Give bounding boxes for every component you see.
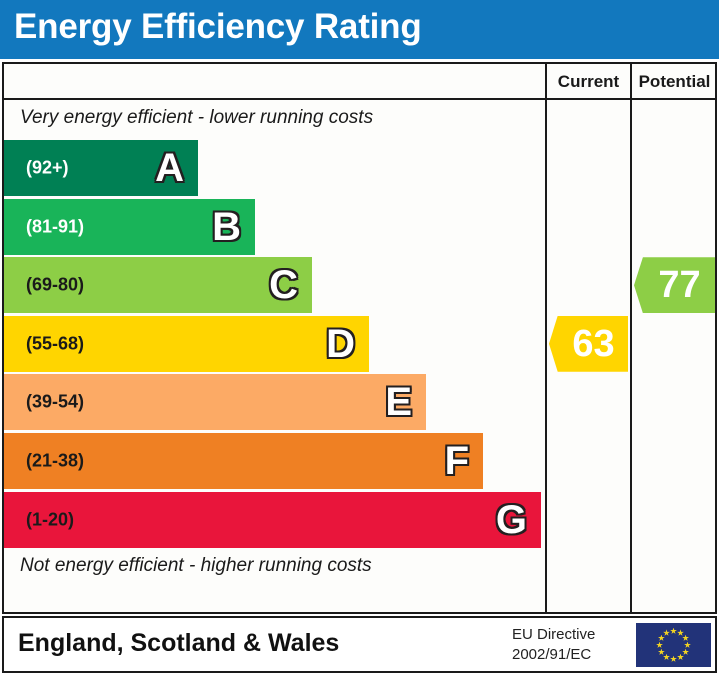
eu-flag-star (670, 628, 677, 635)
eu-flag-star (663, 629, 670, 636)
band-range-b: (81-91) (26, 216, 84, 237)
band-bar-a: (92+)A (4, 140, 198, 196)
caption-efficient: Very energy efficient - lower running co… (20, 107, 373, 129)
band-letter-f: F (445, 441, 469, 481)
band-range-g: (1-20) (26, 509, 74, 530)
eu-flag-star (663, 654, 670, 661)
eu-flag-star (682, 649, 689, 656)
band-bar-b: (81-91)B (4, 199, 255, 255)
rating-marker-current: 63 (549, 316, 628, 372)
eu-flag-icon (636, 623, 711, 667)
rating-value-potential: 77 (648, 266, 700, 304)
eu-flag-star (682, 635, 689, 642)
band-bar-g: (1-20)G (4, 492, 541, 548)
band-letter-d: D (326, 324, 355, 364)
band-letter-e: E (385, 382, 412, 422)
band-bar-d: (55-68)D (4, 316, 369, 372)
band-range-f: (21-38) (26, 451, 84, 472)
band-range-e: (39-54) (26, 392, 84, 413)
directive-line-1: EU Directive (512, 625, 624, 645)
band-bar-e: (39-54)E (4, 374, 426, 430)
header-band: Energy Efficiency Rating (0, 0, 719, 59)
column-separator-current (545, 64, 547, 612)
band-bar-c: (69-80)C (4, 257, 312, 313)
rating-value-current: 63 (562, 325, 614, 363)
eu-flag-star (677, 654, 684, 661)
band-bar-group: (92+)A(81-91)B(69-80)C(55-68)D(39-54)E(2… (4, 140, 543, 550)
band-letter-a: A (155, 148, 184, 188)
band-letter-c: C (269, 265, 298, 305)
column-separator-potential (630, 64, 632, 612)
footer-region-label: England, Scotland & Wales (18, 629, 339, 658)
caption-inefficient: Not energy efficient - higher running co… (20, 555, 372, 577)
column-header-potential: Potential (632, 72, 717, 92)
eu-flag-star (670, 656, 677, 663)
eu-flag-star (684, 642, 691, 649)
rating-marker-potential: 77 (634, 257, 715, 313)
page-title: Energy Efficiency Rating (14, 7, 422, 47)
directive-line-2: 2002/91/EC (512, 645, 624, 665)
eu-flag-star (658, 649, 665, 656)
band-letter-b: B (212, 207, 241, 247)
band-letter-g: G (496, 500, 527, 540)
band-range-c: (69-80) (26, 275, 84, 296)
rating-table: Current Potential Very energy efficient … (2, 62, 717, 614)
footer-directive: EU Directive 2002/91/EC (512, 625, 624, 665)
eu-flag-star (677, 629, 684, 636)
column-header-current: Current (547, 72, 630, 92)
band-bar-f: (21-38)F (4, 433, 483, 489)
band-range-a: (92+) (26, 158, 69, 179)
eu-flag-star (658, 635, 665, 642)
band-range-d: (55-68) (26, 333, 84, 354)
energy-efficiency-certificate: Energy Efficiency Rating Current Potenti… (0, 0, 719, 675)
footer-bar: England, Scotland & Wales EU Directive 2… (2, 616, 717, 673)
eu-flag-star (656, 642, 663, 649)
